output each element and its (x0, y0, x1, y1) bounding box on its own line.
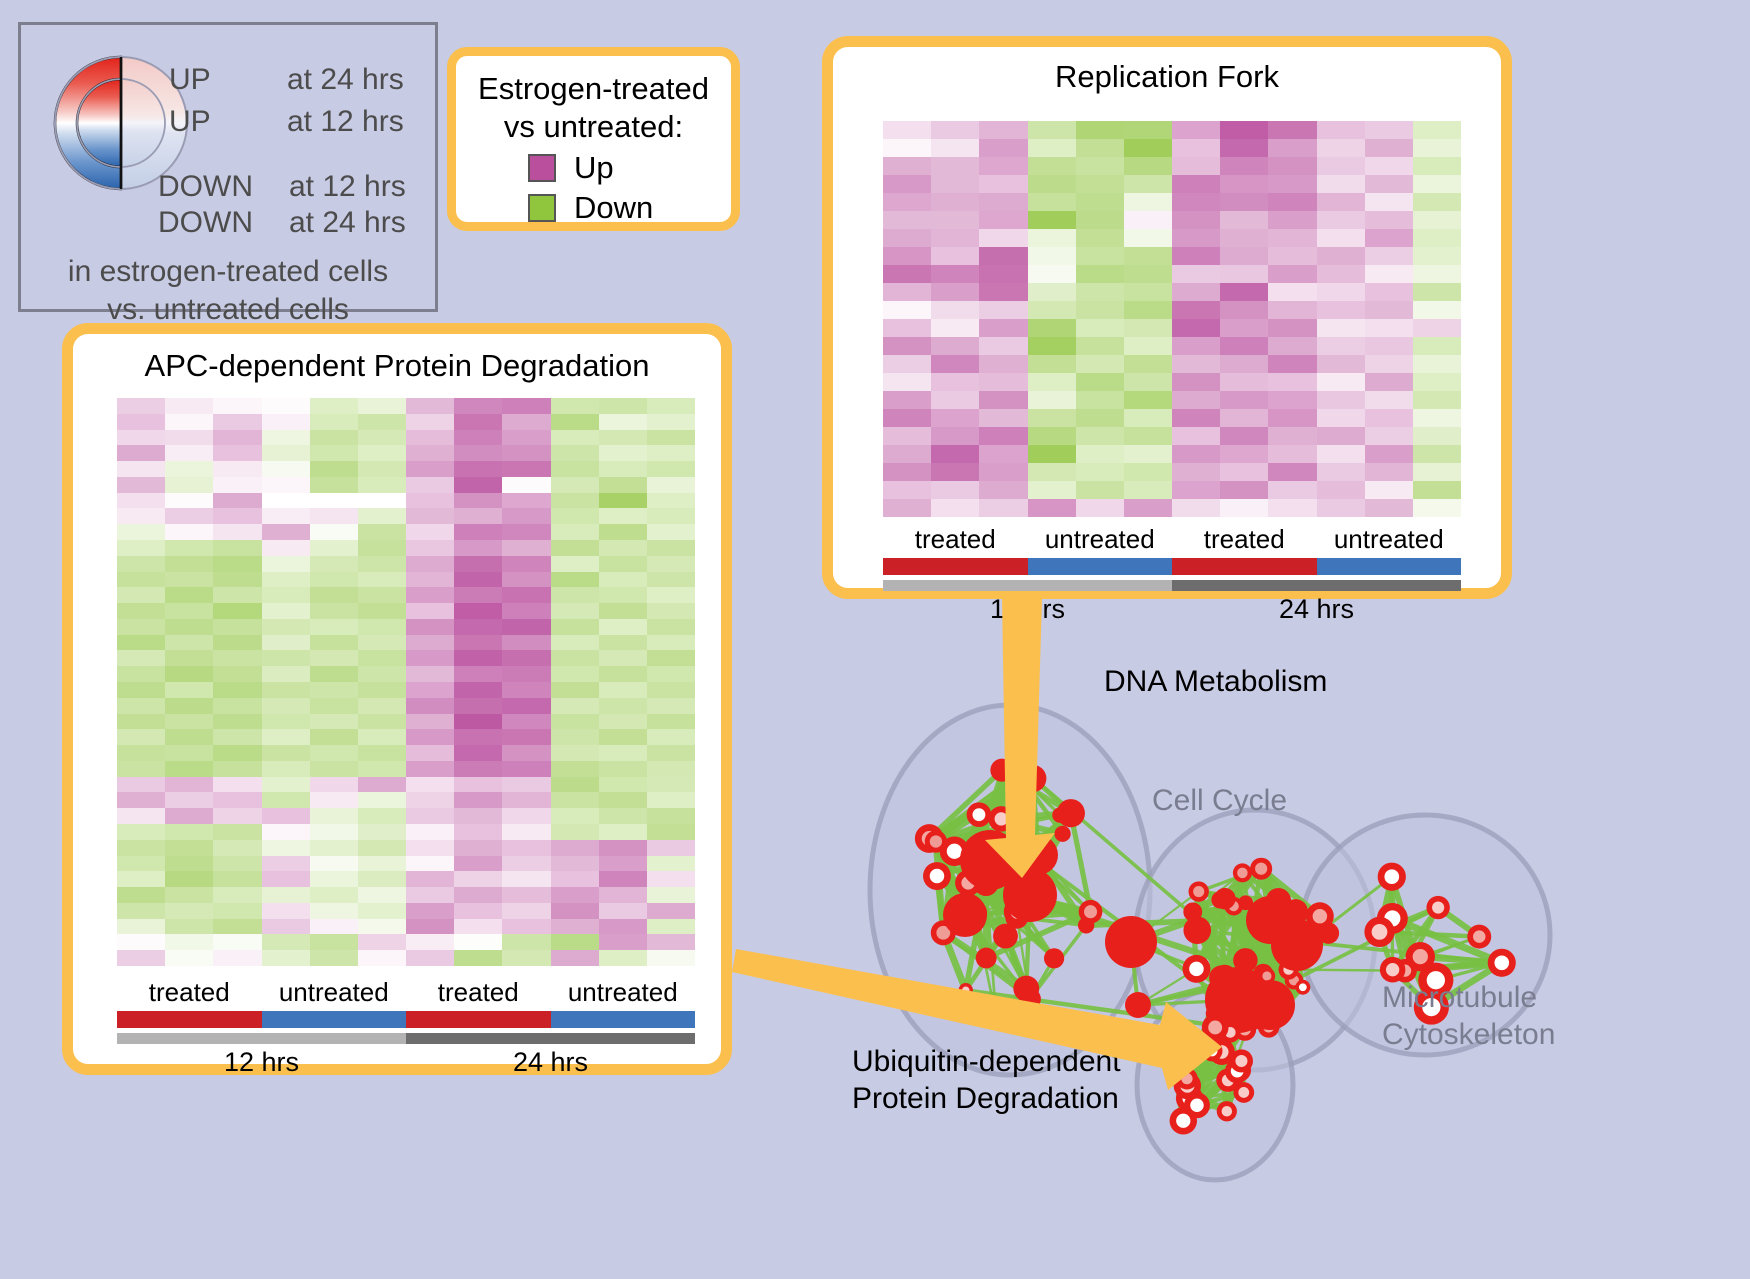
heatmap-cell (165, 729, 213, 745)
heatmap-cell (165, 856, 213, 872)
heatmap-cell (358, 477, 406, 493)
heatmap-cell (647, 603, 695, 619)
heatmap-cell (1268, 373, 1316, 391)
group-label: untreated (262, 978, 407, 1007)
heatmap-cell (310, 666, 358, 682)
heatmap-cell (1220, 193, 1268, 211)
heatmap-cell (979, 175, 1027, 193)
heatmap-cell (647, 934, 695, 950)
heatmap-cell (551, 808, 599, 824)
heatmap-cell (358, 887, 406, 903)
heatmap-cell (599, 840, 647, 856)
heatmap-cell (1317, 121, 1365, 139)
heatmap-cell (1076, 265, 1124, 283)
network-node (1105, 916, 1157, 968)
heatmap-cell (406, 777, 454, 793)
heatmap-cell (406, 729, 454, 745)
network-node-core (1432, 901, 1444, 913)
network-node (993, 924, 1018, 949)
heatmap-cell (454, 682, 502, 698)
heatmap-cell (454, 903, 502, 919)
heatmap-cell (1124, 265, 1172, 283)
heatmap-cell (979, 121, 1027, 139)
heatmap-cell (1172, 139, 1220, 157)
heatmap-cell (883, 157, 931, 175)
group-label: untreated (1028, 525, 1173, 554)
heatmap-cell (406, 745, 454, 761)
heatmap-cell (454, 508, 502, 524)
network-node (1057, 799, 1085, 827)
heatmap-cell (262, 430, 310, 446)
heatmap-cell (117, 603, 165, 619)
network-node (1125, 992, 1151, 1018)
heatmap-cell (1413, 445, 1461, 463)
network-diagram (800, 605, 1750, 1279)
heatmap-cell (1124, 391, 1172, 409)
heatmap-cell (1220, 337, 1268, 355)
heatmap-cell (979, 445, 1027, 463)
heatmap-cell (1220, 211, 1268, 229)
updown-legend-card: Estrogen-treated vs untreated: Up Down (447, 47, 740, 231)
heatmap-cell (1076, 121, 1124, 139)
heatmap-cell (599, 603, 647, 619)
heatmap-cell (551, 698, 599, 714)
legend-up-12-time: at 12 hrs (287, 105, 404, 139)
heatmap-cell (358, 729, 406, 745)
heatmap-cell (551, 682, 599, 698)
heatmap-cell (1365, 409, 1413, 427)
heatmap-cell (406, 524, 454, 540)
heatmap-cell (454, 477, 502, 493)
heatmap-cell (213, 840, 261, 856)
heatmap-cell (117, 666, 165, 682)
heatmap-cell (647, 729, 695, 745)
heatmap-cell (1172, 157, 1220, 175)
heatmap-cell (502, 540, 550, 556)
heatmap-cell (551, 587, 599, 603)
heatmap-cell (1220, 319, 1268, 337)
cluster-label-microtubule: Microtubule Cytoskeleton (1382, 980, 1555, 1053)
heatmap-cell (1172, 427, 1220, 445)
heatmap-cell (406, 572, 454, 588)
heatmap-cell (262, 603, 310, 619)
heatmap-cell (1028, 193, 1076, 211)
heatmap-cell (599, 856, 647, 872)
heatmap-cell (551, 508, 599, 524)
heatmap-cell (1317, 211, 1365, 229)
heatmap-cell (647, 508, 695, 524)
heatmap-cell (358, 682, 406, 698)
heatmap-cell (310, 619, 358, 635)
heatmap-cell (406, 461, 454, 477)
heatmap-cell (1076, 481, 1124, 499)
heatmap-cell (599, 398, 647, 414)
heatmap-cell (117, 493, 165, 509)
heatmap-cell (502, 919, 550, 935)
group-label: treated (117, 978, 262, 1007)
heatmap-cell (1317, 355, 1365, 373)
heatmap-cell (883, 355, 931, 373)
heatmap-cell (117, 871, 165, 887)
heatmap-cell (358, 824, 406, 840)
heatmap-cell (502, 508, 550, 524)
heatmap-cell (262, 792, 310, 808)
heatmap-cell (1317, 427, 1365, 445)
heatmap-cell (599, 414, 647, 430)
heatmap-cell (599, 903, 647, 919)
heatmap-cell (599, 777, 647, 793)
heatmap-cell (883, 211, 931, 229)
heatmap-cell (1076, 373, 1124, 391)
heatmap-cell (310, 761, 358, 777)
heatmap-cell (931, 355, 979, 373)
heatmap-cell (599, 792, 647, 808)
heatmap-cell (213, 887, 261, 903)
heatmap-cell (358, 903, 406, 919)
heatmap-cell (502, 650, 550, 666)
heatmap-cell (262, 919, 310, 935)
heatmap-cell (599, 650, 647, 666)
heatmap-cell (454, 729, 502, 745)
heatmap-cell (117, 950, 165, 966)
heatmap-cell (165, 745, 213, 761)
heatmap-cell (262, 934, 310, 950)
time-color-bar-apc (117, 1033, 695, 1044)
heatmap-cell (358, 919, 406, 935)
heatmap-cell (647, 856, 695, 872)
heatmap-cell (454, 603, 502, 619)
time-labels-apc: 12 hrs 24 hrs (117, 1047, 695, 1078)
heatmap-cell (310, 430, 358, 446)
legend-up-24-label: UP (169, 63, 211, 97)
heatmap-cell (1028, 463, 1076, 481)
group-label: untreated (1317, 525, 1462, 554)
heatmap-cell (1268, 427, 1316, 445)
time-bar-24hrs (406, 1033, 695, 1044)
heatmap-cell (979, 499, 1027, 517)
heatmap-cell (117, 745, 165, 761)
heatmap-cell (502, 477, 550, 493)
heatmap-cell (647, 493, 695, 509)
heatmap-cell (1076, 319, 1124, 337)
heatmap-cell (599, 635, 647, 651)
heatmap-cell (979, 319, 1027, 337)
heatmap-cell (358, 540, 406, 556)
heatmap-cell (979, 391, 1027, 409)
heatmap-cell (262, 635, 310, 651)
heatmap-cell (406, 508, 454, 524)
heatmap-cell (213, 698, 261, 714)
heatmap-cell (310, 792, 358, 808)
heatmap-cell (1220, 283, 1268, 301)
legend-down-24-label: DOWN (158, 206, 253, 240)
heatmap-cell (551, 903, 599, 919)
heatmap-cell (358, 635, 406, 651)
heatmap-cell (406, 840, 454, 856)
heatmap-cell (213, 414, 261, 430)
heatmap-cell (931, 265, 979, 283)
network-node-core (1190, 1099, 1203, 1112)
color-wheel-legend: UP at 24 hrs UP at 12 hrs DOWN at 12 hrs… (18, 22, 438, 312)
network-node (943, 893, 987, 937)
heatmap-cell (406, 587, 454, 603)
heatmap-cell (213, 950, 261, 966)
heatmap-cell (310, 682, 358, 698)
heatmap-cell (1220, 373, 1268, 391)
heatmap-cell (502, 887, 550, 903)
heatmap-cell (502, 445, 550, 461)
network-node (983, 1004, 1008, 1029)
heatmap-cell (117, 808, 165, 824)
heatmap-cell (1076, 499, 1124, 517)
heatmap-cell (647, 903, 695, 919)
heatmap-cell (1413, 373, 1461, 391)
heatmap-cell (117, 398, 165, 414)
heatmap-cell (1365, 193, 1413, 211)
heatmap-cell (1220, 463, 1268, 481)
heatmap-cell (502, 934, 550, 950)
heatmap-cell (502, 493, 550, 509)
heatmap-cell (358, 461, 406, 477)
heatmap-cell (117, 556, 165, 572)
heatmap-cell (358, 808, 406, 824)
heatmap-cell (551, 430, 599, 446)
heatmap-cell (1365, 247, 1413, 265)
heatmap-cell (1268, 319, 1316, 337)
heatmap-cell (310, 445, 358, 461)
heatmap-cell (262, 871, 310, 887)
heatmap-cell (310, 871, 358, 887)
heatmap-cell (165, 430, 213, 446)
group-bar-untreated-12 (1028, 558, 1173, 575)
heatmap-cell (310, 635, 358, 651)
heatmap-cell (599, 934, 647, 950)
heatmap-cell (1124, 373, 1172, 391)
heatmap-cell (358, 745, 406, 761)
heatmap-cell (165, 414, 213, 430)
heatmap-cell (358, 414, 406, 430)
group-color-bar-replication-fork (883, 558, 1461, 575)
heatmap-cell (647, 650, 695, 666)
heatmap-cell (213, 729, 261, 745)
network-node-core (930, 835, 942, 847)
heatmap-cell (213, 777, 261, 793)
heatmap-cell (647, 919, 695, 935)
heatmap-cell (1413, 319, 1461, 337)
heatmap-cell (1076, 427, 1124, 445)
heatmap-cell (883, 499, 931, 517)
heatmap-cell (1268, 175, 1316, 193)
heatmap-cell (1172, 337, 1220, 355)
heatmap-cell (502, 556, 550, 572)
network-node-core (1386, 963, 1399, 976)
heatmap-cell (551, 414, 599, 430)
heatmap-cell (454, 919, 502, 935)
heatmap-cell (551, 729, 599, 745)
heatmap-cell (647, 808, 695, 824)
heatmap-cell (1124, 319, 1172, 337)
heatmap-cell (454, 887, 502, 903)
heatmap-cell (165, 871, 213, 887)
heatmap-cell (502, 871, 550, 887)
heatmap-cell (502, 729, 550, 745)
heatmap-cell (599, 808, 647, 824)
group-labels-replication-fork: treated untreated treated untreated (883, 525, 1461, 554)
heatmap-apc (117, 398, 695, 966)
legend-up-text: Up (574, 150, 614, 186)
network-node (1054, 826, 1070, 842)
heatmap-cell (358, 445, 406, 461)
heatmap-cell (647, 840, 695, 856)
network-node-core (1384, 869, 1399, 884)
heatmap-cell (213, 682, 261, 698)
heatmap-cell (1365, 229, 1413, 247)
heatmap-cell (454, 556, 502, 572)
heatmap-cell (1076, 355, 1124, 373)
heatmap-cell (599, 745, 647, 761)
heatmap-cell (1076, 193, 1124, 211)
heatmap-cell (1172, 121, 1220, 139)
heatmap-cell (1076, 247, 1124, 265)
heatmap-cell (979, 409, 1027, 427)
heatmap-cell (979, 301, 1027, 319)
heatmap-cell (979, 229, 1027, 247)
heatmap-cell (358, 398, 406, 414)
network-node-core (973, 808, 986, 821)
time-label-12hrs: 12 hrs (117, 1047, 406, 1078)
heatmap-cell (262, 572, 310, 588)
heatmap-cell (406, 808, 454, 824)
heatmap-cell (502, 635, 550, 651)
network-node-core (1206, 1045, 1217, 1056)
heatmap-cell (454, 587, 502, 603)
heatmap-cell (1268, 337, 1316, 355)
heatmap-cell (1268, 391, 1316, 409)
heatmap-cell (406, 856, 454, 872)
heatmap-cell (454, 777, 502, 793)
heatmap-cell (1317, 391, 1365, 409)
heatmap-cell (1220, 247, 1268, 265)
heatmap-cell (647, 714, 695, 730)
heatmap-cell (599, 556, 647, 572)
heatmap-cell (502, 761, 550, 777)
heatmap-cell (502, 698, 550, 714)
heatmap-cell (1268, 121, 1316, 139)
heatmap-cell (454, 934, 502, 950)
heatmap-cell (165, 666, 213, 682)
heatmap-cell (1172, 265, 1220, 283)
heatmap-cell (931, 139, 979, 157)
heatmap-cell (117, 792, 165, 808)
heatmap-cell (454, 430, 502, 446)
heatmap-cell (117, 461, 165, 477)
heatmap-cell (262, 666, 310, 682)
heatmap-cell (165, 950, 213, 966)
heatmap-cell (551, 761, 599, 777)
heatmap-cell (310, 887, 358, 903)
heatmap-cell (1076, 283, 1124, 301)
heatmap-cell (1124, 481, 1172, 499)
heatmap-cell (931, 409, 979, 427)
heatmap-cell (1172, 211, 1220, 229)
heatmap-cell (883, 409, 931, 427)
heatmap-cell (551, 603, 599, 619)
heatmap-cell (406, 430, 454, 446)
heatmap-cell (1317, 229, 1365, 247)
heatmap-cell (213, 398, 261, 414)
heatmap-cell (117, 919, 165, 935)
heatmap-cell (647, 524, 695, 540)
group-bar-untreated-24 (1317, 558, 1462, 575)
group-color-bar-apc (117, 1011, 695, 1028)
heatmap-cell (1317, 481, 1365, 499)
heatmap-cell (1220, 121, 1268, 139)
heatmap-cell (979, 373, 1027, 391)
heatmap-cell (1172, 481, 1220, 499)
heatmap-cell (1317, 157, 1365, 175)
heatmap-cell (310, 856, 358, 872)
heatmap-cell (551, 856, 599, 872)
heatmap-cell (165, 682, 213, 698)
heatmap-cell (117, 856, 165, 872)
heatmap-cell (551, 714, 599, 730)
heatmap-cell (599, 729, 647, 745)
heatmap-cell (979, 355, 1027, 373)
heatmap-cell (406, 445, 454, 461)
heatmap-cell (262, 682, 310, 698)
heatmap-cell (117, 714, 165, 730)
heatmap-cell (647, 477, 695, 493)
heatmap-cell (165, 508, 213, 524)
heatmap-cell (1028, 481, 1076, 499)
network-node-core (1494, 955, 1509, 970)
heatmap-cell (1268, 499, 1316, 517)
heatmap-cell (213, 934, 261, 950)
network-node (990, 759, 1013, 782)
heatmap-cell (310, 556, 358, 572)
heatmap-cell (502, 603, 550, 619)
heatmap-cell (1172, 463, 1220, 481)
heatmap-cell (551, 950, 599, 966)
heatmap-cell (931, 211, 979, 229)
heatmap-cell (213, 477, 261, 493)
heatmap-cell (979, 283, 1027, 301)
heatmap-cell (1076, 337, 1124, 355)
network-node (1044, 948, 1064, 968)
heatmap-cell (1365, 463, 1413, 481)
heatmap-cell (117, 619, 165, 635)
heatmap-cell (1076, 139, 1124, 157)
heatmap-cell (1317, 499, 1365, 517)
heatmap-cell (1413, 211, 1461, 229)
heatmap-cell (262, 824, 310, 840)
heatmap-cell (1365, 445, 1413, 463)
heatmap-cell (1317, 337, 1365, 355)
heatmap-cell (117, 445, 165, 461)
heatmap-cell (454, 824, 502, 840)
heatmap-cell (1413, 157, 1461, 175)
time-bar-12hrs (883, 580, 1172, 591)
heatmap-cell (979, 427, 1027, 445)
heatmap-cell (979, 139, 1027, 157)
heatmap-cell (117, 524, 165, 540)
heatmap-cell (454, 950, 502, 966)
network-node-core (947, 844, 962, 859)
heatmap-cell (1028, 157, 1076, 175)
heatmap-cell (647, 761, 695, 777)
heatmap-cell (406, 635, 454, 651)
heatmap-cell (883, 229, 931, 247)
